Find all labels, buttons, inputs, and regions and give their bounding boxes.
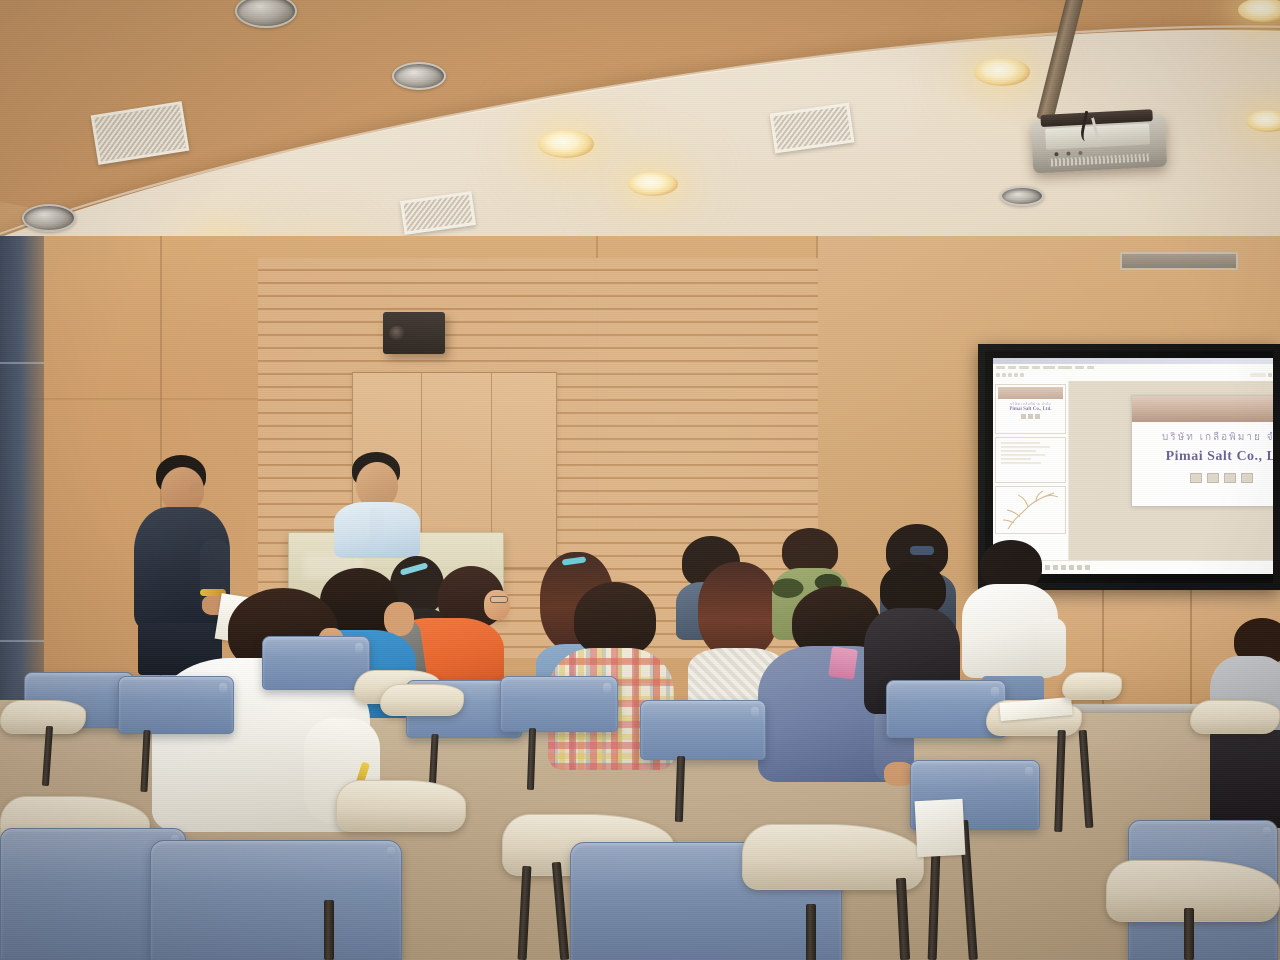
ppt-toolbar <box>993 371 1280 379</box>
ppt-workspace: บริษัท เกลือพิมาย จำกัด Pimai Salt Co., … <box>993 381 1280 560</box>
wall-speaker-icon <box>383 312 445 354</box>
tablet-arm-desk <box>1062 672 1122 700</box>
attendee-white-polo <box>962 540 1058 680</box>
slide-thumbnail-3[interactable] <box>995 486 1066 534</box>
downlight-6-icon <box>628 172 678 196</box>
projector-button-icon <box>1054 152 1058 156</box>
slide-thumbnail-1[interactable]: บริษัท เกลือพิมาย จำกัด Pimai Salt Co., … <box>995 384 1066 434</box>
downlight-5-icon <box>538 130 594 158</box>
downlight-2-icon <box>392 62 446 90</box>
hand-on-face <box>384 602 414 636</box>
hair <box>574 582 656 656</box>
tablet-arm-desk <box>380 684 464 716</box>
ppt-menu-bar <box>993 364 1280 371</box>
chair-back <box>640 700 766 760</box>
chair-leg <box>324 900 334 960</box>
booklet <box>915 799 966 857</box>
projector-vent-icon <box>1049 153 1149 166</box>
slide-banner-image <box>1132 396 1280 422</box>
hair-tie <box>910 546 934 555</box>
thumbnail-english-title: Pimai Salt Co., Ltd. <box>998 407 1063 412</box>
tablet-arm-desk <box>1190 700 1280 734</box>
slide-thumbnail-2[interactable] <box>995 437 1066 483</box>
chair-back <box>500 676 618 732</box>
downlight-11-icon <box>1000 186 1044 206</box>
slide-thai-title: บริษัท เกลือพิมาย จำ <box>1132 430 1280 445</box>
seminar-room-photo: บริษัท เกลือพิมาย จำกัด Pimai Salt Co., … <box>0 0 1280 960</box>
chair-leg <box>1184 908 1194 960</box>
face <box>484 590 510 620</box>
wall-air-vent-icon <box>1120 252 1238 270</box>
ppt-slide-thumbnails[interactable]: บริษัท เกลือพิมาย จำกัด Pimai Salt Co., … <box>993 381 1069 560</box>
glasses-icon <box>490 596 508 603</box>
projector-button-icon <box>1078 151 1082 155</box>
chair-back <box>262 636 370 690</box>
tablet-arm-desk <box>336 780 466 832</box>
wall-column <box>0 236 44 706</box>
chair-leg <box>806 904 816 960</box>
current-slide: บริษัท เกลือพิมาย จำ Pimai Salt Co., L <box>1131 395 1280 507</box>
thumbnail-banner <box>998 387 1063 399</box>
lanyard <box>828 646 858 679</box>
thumbnail-logo-row <box>998 414 1063 419</box>
downlight-9-icon <box>974 58 1030 86</box>
torso-dark <box>1210 730 1280 828</box>
projector-button-icon <box>1066 152 1070 156</box>
shirt-placket <box>370 508 384 552</box>
ear <box>190 483 204 497</box>
tablet-arm-desk <box>0 700 86 734</box>
speaker-cone-icon <box>389 326 405 340</box>
presenter-at-podium <box>334 452 420 552</box>
chair-back <box>150 840 402 960</box>
ppt-slide-canvas[interactable]: บริษัท เกลือพิมาย จำ Pimai Salt Co., L <box>1069 381 1280 560</box>
diagram-icon <box>998 489 1066 531</box>
downlight-3-icon <box>22 204 76 232</box>
chair-back <box>118 676 234 734</box>
hair <box>980 540 1042 590</box>
slide-logo-row <box>1132 473 1280 483</box>
slide-english-title: Pimai Salt Co., L <box>1132 449 1280 465</box>
arm <box>1038 618 1066 676</box>
